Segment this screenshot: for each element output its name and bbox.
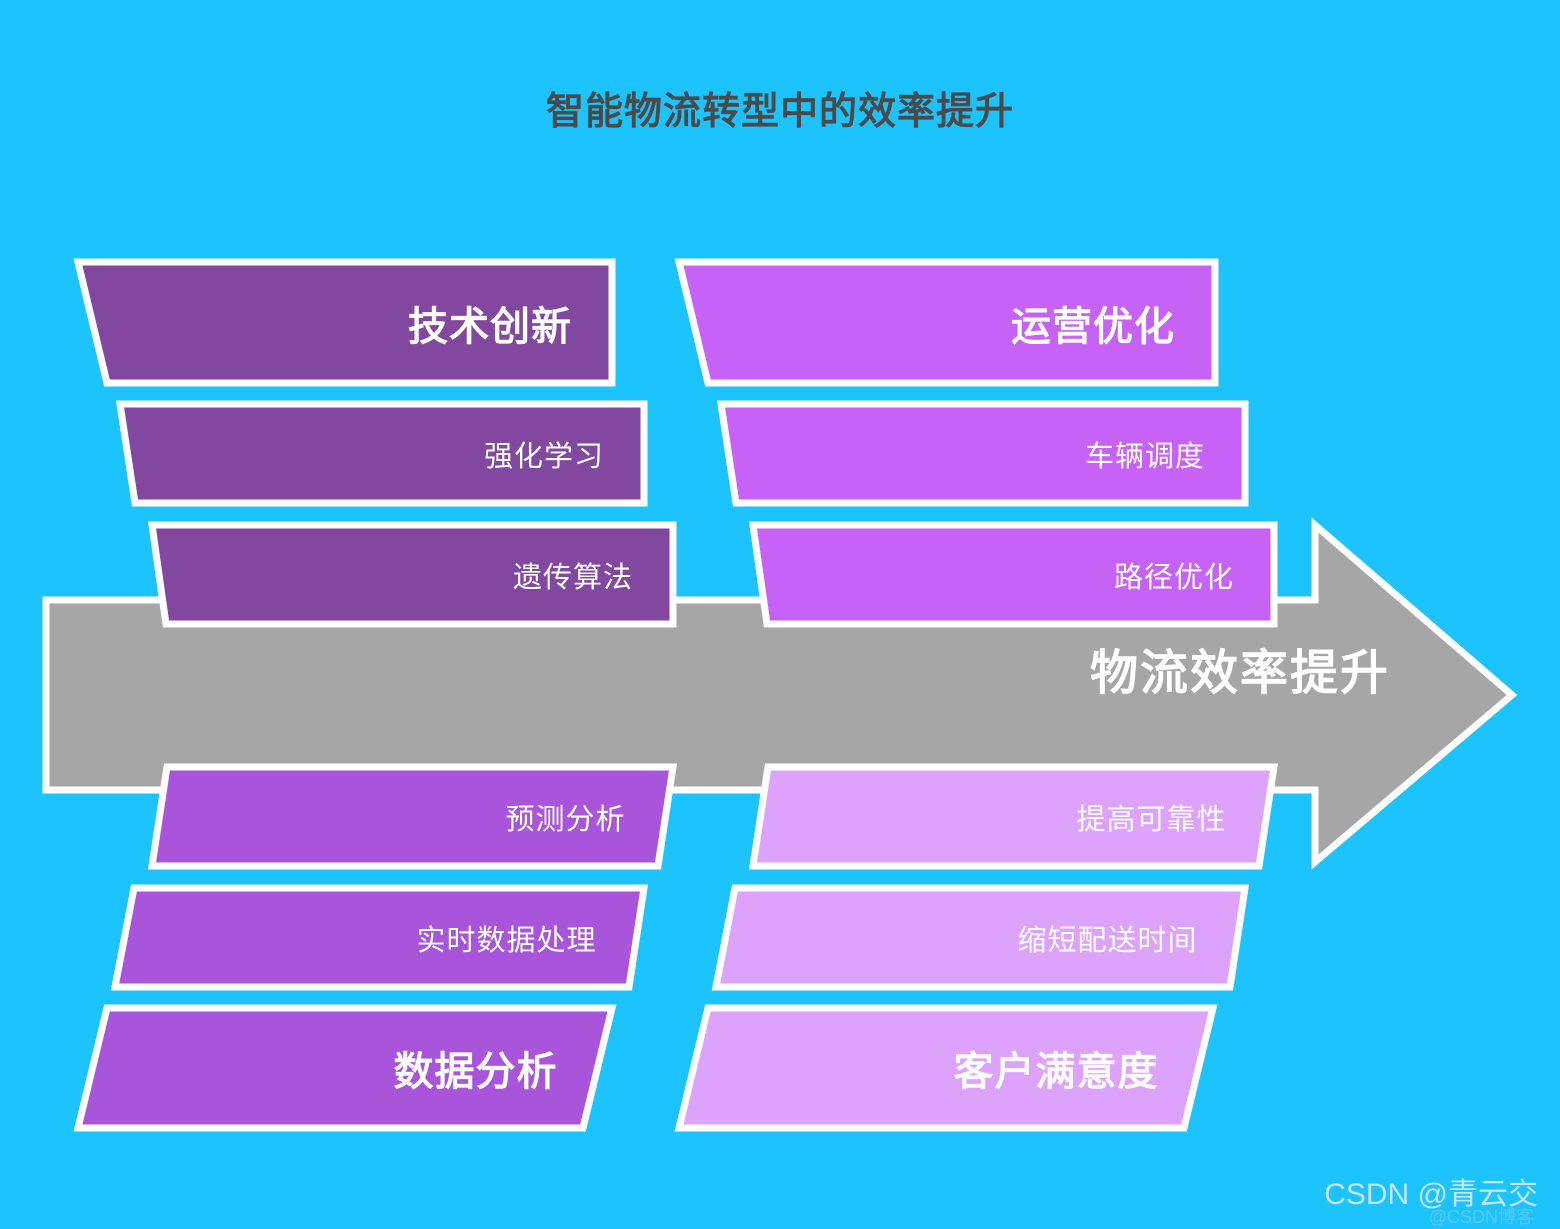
shape-right-0: [679, 262, 1215, 383]
shape-left-4: [115, 888, 644, 987]
watermark: CSDN @青云交 @CSDN博客: [1324, 1169, 1538, 1213]
shape-right-2: [753, 525, 1274, 624]
shape-left-1: [120, 404, 644, 503]
shape-right-1: [721, 404, 1245, 503]
diagram-shapes: [0, 0, 1560, 1225]
shape-left-3: [152, 767, 673, 866]
shape-right-3: [753, 767, 1274, 866]
shape-right-5: [679, 1008, 1213, 1128]
diagram-canvas: 智能物流转型中的效率提升 物流效率提升 技术创新 强化学习 遗传算法 预: [0, 0, 1560, 1225]
shape-left-5: [78, 1008, 612, 1128]
shape-right-4: [716, 888, 1245, 987]
shape-left-0: [78, 262, 612, 383]
shape-left-2: [152, 525, 673, 624]
watermark-subtext: @CSDN博客: [1429, 1203, 1534, 1229]
